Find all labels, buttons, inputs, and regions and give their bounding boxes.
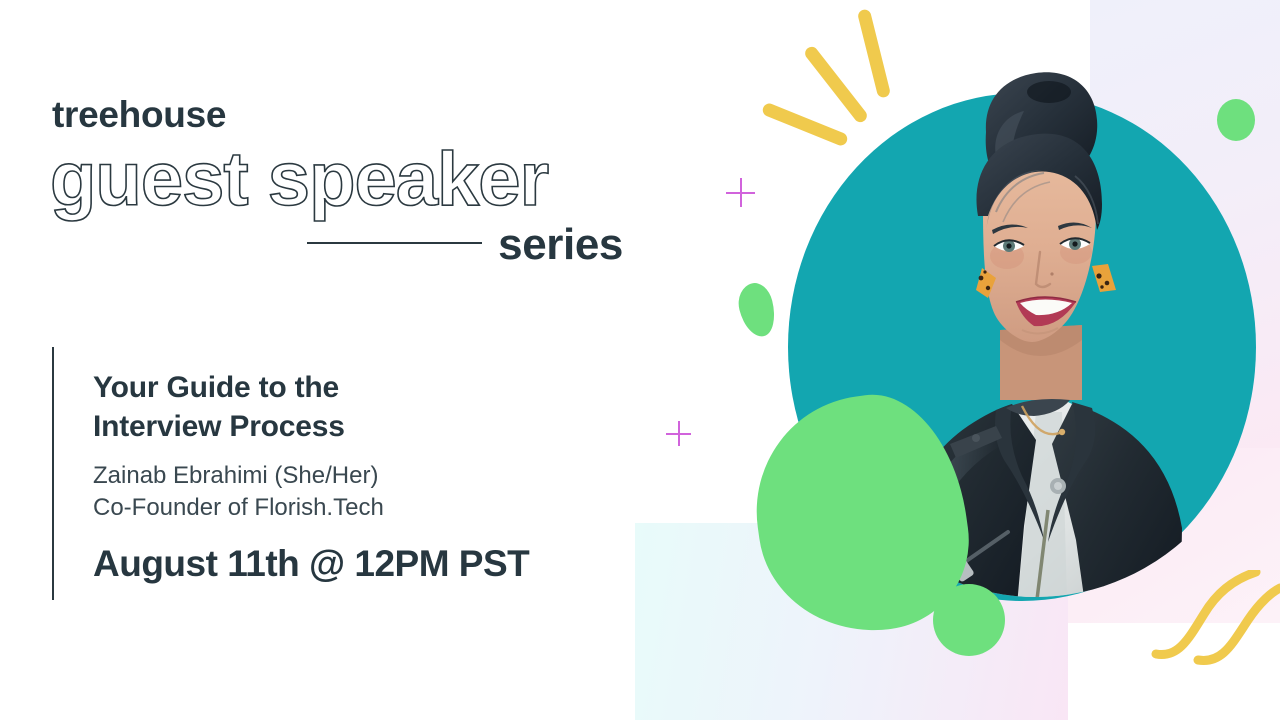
speaker-name: Zainab Ebrahimi (She/Her) xyxy=(93,460,529,492)
event-info-block: Your Guide to the Interview Process Zain… xyxy=(52,347,529,600)
poster-canvas: treehouse guest speaker series Your Guid… xyxy=(0,0,1280,720)
event-datetime: August 11th @ 12PM PST xyxy=(93,545,529,582)
talk-title-line-1: Your Guide to the xyxy=(93,368,529,407)
talk-title-line-2: Interview Process xyxy=(93,407,529,446)
brand-wordmark: treehouse xyxy=(52,96,670,133)
series-row: series xyxy=(50,223,623,267)
series-divider-rule xyxy=(307,242,482,244)
green-bean-shape xyxy=(734,280,780,341)
outline-headline: guest speaker xyxy=(50,139,670,221)
magenta-plus-icon xyxy=(666,421,691,446)
speaker-role: Co-Founder of Florish.Tech xyxy=(93,492,529,524)
green-circle-shape xyxy=(933,584,1005,656)
magenta-plus-icon xyxy=(726,178,755,207)
headline-block: treehouse guest speaker series xyxy=(50,96,670,267)
series-word: series xyxy=(498,223,623,267)
yellow-squiggle-icon xyxy=(1148,570,1280,720)
talk-title: Your Guide to the Interview Process xyxy=(93,368,529,446)
